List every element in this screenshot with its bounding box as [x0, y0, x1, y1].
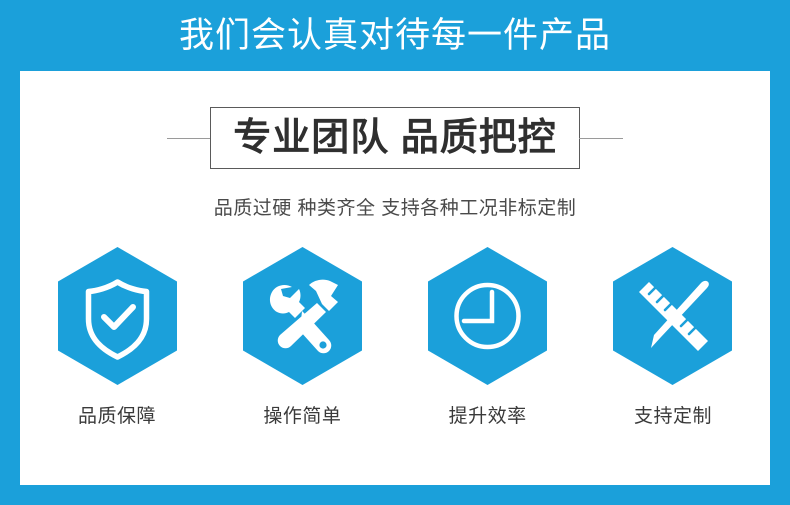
feature-label: 品质保障: [78, 401, 156, 428]
promo-poster: 我们会认真对待每一件产品 专业团队 品质把控 品质过硬 种类齐全 支持各种工况非…: [0, 0, 790, 505]
feature-list: 品质保障: [20, 247, 770, 428]
hexagon-badge: [58, 247, 177, 385]
heading-rule-left: [167, 138, 211, 139]
top-banner: 我们会认真对待每一件产品: [0, 0, 790, 71]
feature-item-quality: 品质保障: [53, 247, 181, 428]
feature-item-efficiency: 提升效率: [424, 247, 552, 428]
feature-label: 支持定制: [634, 401, 712, 428]
ruler-pen-icon: [613, 247, 732, 385]
feature-label: 提升效率: [449, 401, 527, 428]
wrench-hammer-icon: [243, 247, 362, 385]
heading-rule-right: [579, 138, 623, 139]
feature-item-customization: 支持定制: [609, 247, 737, 428]
hexagon-badge: [613, 247, 732, 385]
heading-section: 专业团队 品质把控: [20, 103, 770, 173]
content-panel: 专业团队 品质把控 品质过硬 种类齐全 支持各种工况非标定制 品质保障: [20, 71, 770, 485]
heading-subtitle: 品质过硬 种类齐全 支持各种工况非标定制: [20, 193, 770, 220]
feature-item-easy-operation: 操作简单: [238, 247, 366, 428]
hexagon-badge: [243, 247, 362, 385]
heading-title: 专业团队 品质把控: [233, 119, 557, 157]
shield-check-icon: [58, 247, 177, 385]
hexagon-badge: [428, 247, 547, 385]
banner-title: 我们会认真对待每一件产品: [179, 18, 611, 53]
feature-label: 操作简单: [263, 401, 341, 428]
heading-box: 专业团队 品质把控: [210, 107, 580, 169]
clock-icon: [428, 247, 547, 385]
